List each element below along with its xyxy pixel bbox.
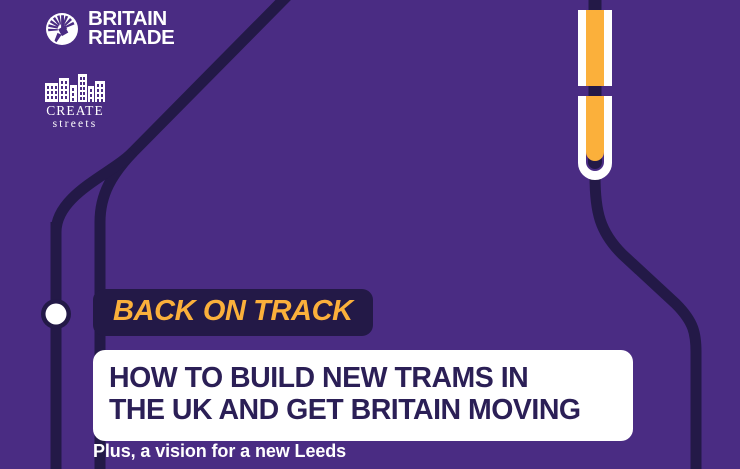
subheadline: Plus, a vision for a new Leeds	[93, 441, 346, 462]
create-streets-line-1: CREATE	[44, 103, 106, 118]
eyebrow-label: BACK ON TRACK	[113, 297, 353, 326]
eyebrow-badge: BACK ON TRACK	[93, 289, 373, 336]
left-tram-line-branch-curve	[56, 152, 133, 232]
poster-canvas: BRITAIN REMADE	[0, 0, 740, 469]
headline-panel: HOW TO BUILD NEW TRAMS IN THE UK AND GET…	[93, 350, 633, 441]
create-streets-line-2: streets	[44, 118, 106, 131]
create-streets-buildings-icon	[45, 72, 105, 102]
create-streets-logo: CREATE streets	[44, 72, 106, 131]
station-dot-fill	[46, 304, 67, 325]
rail-segment-lower	[578, 96, 612, 180]
headline-line-1: HOW TO BUILD NEW TRAMS IN	[109, 363, 617, 395]
britain-remade-burst-icon	[45, 12, 79, 46]
britain-remade-line-2: REMADE	[88, 29, 174, 48]
rail-segment-upper	[578, 10, 612, 86]
britain-remade-logo: BRITAIN REMADE	[45, 10, 174, 48]
britain-remade-wordmark: BRITAIN REMADE	[88, 10, 174, 48]
headline-line-2: THE UK AND GET BRITAIN MOVING	[109, 395, 617, 427]
